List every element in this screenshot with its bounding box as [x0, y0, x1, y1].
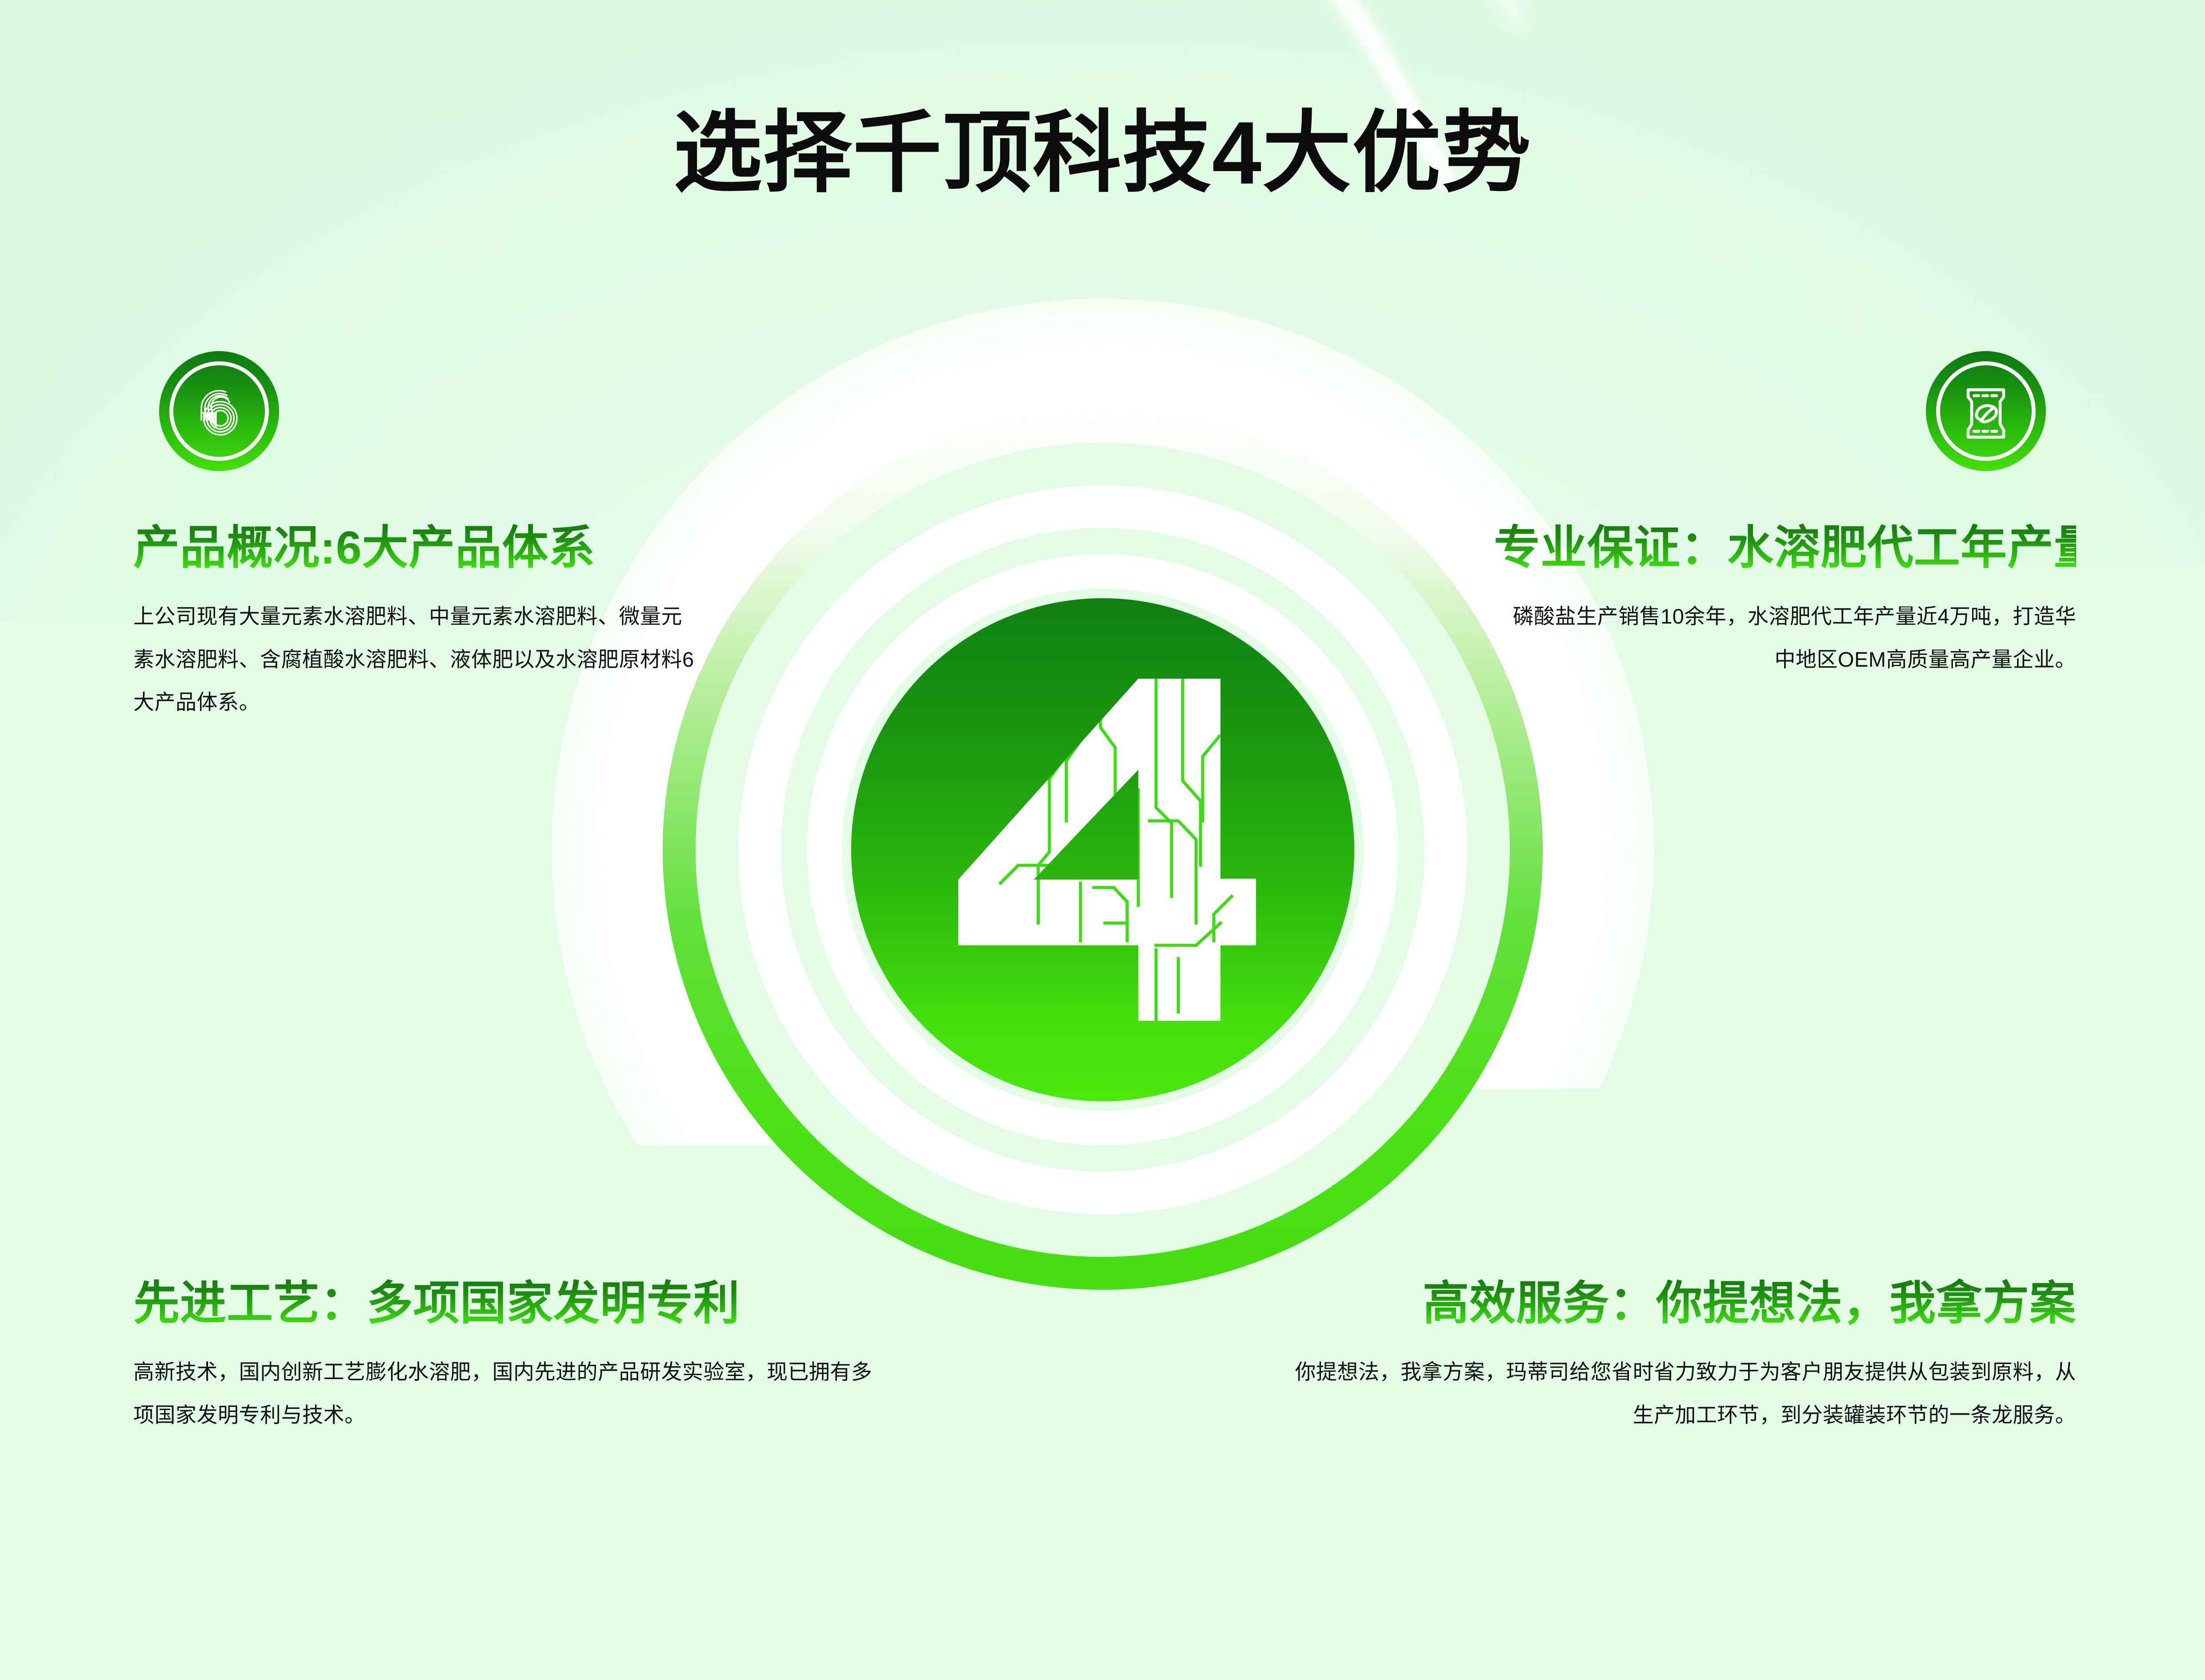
number-six-circle-icon — [184, 376, 255, 447]
fertilizer-bag-icon — [1950, 376, 2021, 447]
advantage-heading: 专业保证：水溶肥代工年产量近4万吨 — [1494, 522, 2076, 574]
badge-product-overview — [159, 351, 279, 471]
advantage-body: 高新技术，国内创新工艺膨化水溶肥，国内先进的产品研发实验室，现已拥有多项国家发明… — [133, 1351, 889, 1436]
badge-efficient-service — [1926, 1107, 2046, 1227]
advantage-block-top-right: 专业保证：水溶肥代工年产量近4万吨 磷酸盐生产销售10余年，水溶肥代工年产量近4… — [1494, 522, 2076, 681]
page-title: 选择千顶科技4大优势 — [0, 107, 2205, 200]
badge-capacity-guarantee — [1926, 351, 2046, 471]
center-number-disc — [851, 598, 1354, 1101]
advantage-block-bottom-left: 先进工艺：多项国家发明专利 高新技术，国内创新工艺膨化水溶肥，国内先进的产品研发… — [133, 1278, 889, 1436]
people-meeting-table-icon — [1950, 1131, 2021, 1202]
badge-advanced-technology — [159, 1107, 279, 1227]
advantage-body: 上公司现有大量元素水溶肥料、中量元素水溶肥料、微量元素水溶肥料、含腐植酸水溶肥料… — [133, 595, 702, 724]
advantage-heading: 高效服务：你提想法，我拿方案 — [1294, 1278, 2076, 1329]
advantage-heading: 产品概况:6大产品体系 — [133, 522, 702, 574]
center-graphic — [503, 250, 1703, 1450]
number-four-tech-glyph — [947, 674, 1258, 1025]
advantage-heading: 先进工艺：多项国家发明专利 — [133, 1278, 889, 1329]
advantage-body: 你提想法，我拿方案，玛蒂司给您省时省力致力于为客户朋友提供从包装到原料，从生产加… — [1294, 1351, 2076, 1436]
advantage-block-top-left: 产品概况:6大产品体系 上公司现有大量元素水溶肥料、中量元素水溶肥料、微量元素水… — [133, 522, 702, 724]
advantage-block-bottom-right: 高效服务：你提想法，我拿方案 你提想法，我拿方案，玛蒂司给您省时省力致力于为客户… — [1294, 1278, 2076, 1436]
advantage-body: 磷酸盐生产销售10余年，水溶肥代工年产量近4万吨，打造华中地区OEM高质量高产量… — [1494, 595, 2076, 681]
infographic-poster: 选择千顶科技4大优势 — [0, 0, 2205, 1680]
atom-icon — [184, 1131, 255, 1202]
